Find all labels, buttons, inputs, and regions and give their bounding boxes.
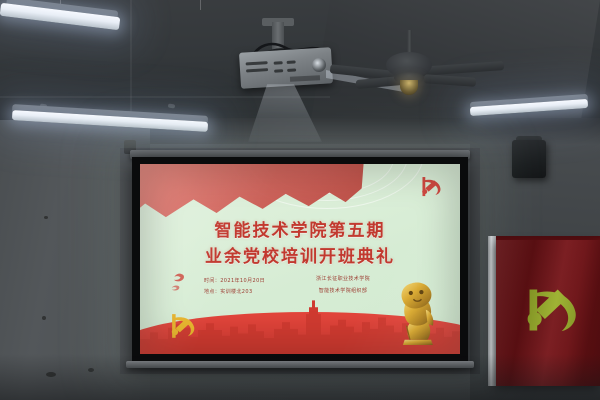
dove-silhouettes [169,270,203,292]
wall-mark [42,316,46,320]
classroom-photo-scene: 智能技术学院第五期 业余党校培训开班典礼 时间：2021年10月20日 地点：实… [0,0,600,400]
light-wire [200,0,201,10]
slide-title: 智能技术学院第五期 业余党校培训开班典礼 [140,219,460,270]
slide-meta-time: 时间：2021年10月20日 [204,276,265,287]
wall-mark [44,216,48,219]
slide-title-line-2: 业余党校培训开班典礼 [140,245,460,271]
lower-shadow [0,354,600,400]
slide-meta-right: 浙江长征职业技术学院 智能技术学院组织部 [316,274,370,297]
slide-meta-school: 浙江长征职业技术学院 [316,274,370,286]
slide-meta-department: 智能技术学院组织部 [316,286,370,298]
slide-meta-place: 地点：实训楼北203 [204,287,265,298]
party-emblem-icon [417,172,447,200]
slide-meta-left: 时间：2021年10月20日 地点：实训楼北203 [204,276,265,297]
ceiling-fan-rod [407,30,412,54]
screen-surface: 智能技术学院第五期 业余党校培训开班典礼 时间：2021年10月20日 地点：实… [140,164,460,354]
wall-speaker [512,140,546,178]
slide-title-line-1: 智能技术学院第五期 [140,219,460,245]
projection-screen[interactable]: 智能技术学院第五期 业余党校培训开班典礼 时间：2021年10月20日 地点：实… [132,157,468,363]
golden-guardian-lion-statue [390,271,444,345]
presentation-slide: 智能技术学院第五期 业余党校培训开班典礼 时间：2021年10月20日 地点：实… [140,164,460,354]
party-emblem-icon [166,309,200,341]
light-clip [168,104,175,109]
